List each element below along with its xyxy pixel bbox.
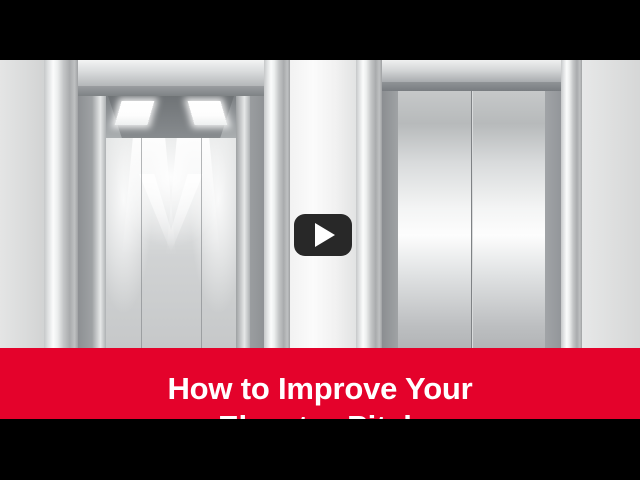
video-player[interactable]: How to Improve Your Elevator Pitch [0, 0, 640, 480]
video-title-line-2: Elevator Pitch [0, 408, 640, 419]
letterbox-bar-bottom [0, 419, 640, 480]
video-title-line-1: How to Improve Your [0, 370, 640, 408]
ceiling-light-icon-right [188, 101, 228, 125]
title-card-band: How to Improve Your Elevator Pitch [0, 348, 640, 419]
ceiling-light-icon-left [115, 101, 155, 125]
elevator-left-header-beam [78, 60, 264, 86]
elevator-right-header-shadow [382, 82, 561, 91]
video-title: How to Improve Your Elevator Pitch [0, 370, 640, 419]
play-triangle-icon [315, 223, 335, 247]
car-ceiling [92, 96, 250, 142]
elevator-right-header-beam [382, 60, 561, 82]
play-button[interactable] [294, 214, 352, 256]
letterbox-bar-top [0, 0, 640, 60]
elevator-left-header-shadow [78, 86, 264, 96]
